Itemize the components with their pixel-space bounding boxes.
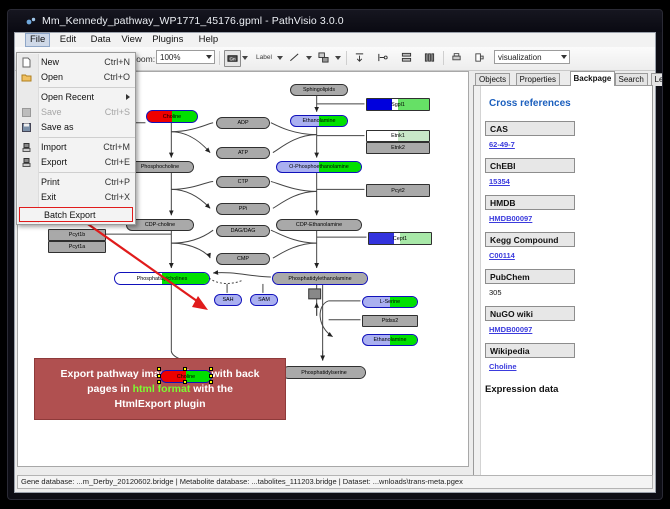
menu-item-help[interactable]: Help (195, 34, 223, 46)
xref-database-nugo-wiki: NuGO wiki (485, 306, 575, 321)
pathway-metabolite-node[interactable]: L-Serine (362, 296, 418, 308)
xref-value-cas[interactable]: 62-49-7 (489, 140, 515, 149)
pathway-gene-node[interactable]: Pcyt1a (48, 241, 106, 253)
menu-item-file[interactable]: File (25, 33, 50, 47)
menu-accelerator: Ctrl+X (105, 190, 130, 205)
datanode-icon[interactable]: Gn (224, 50, 241, 67)
menu-label: Save (41, 107, 62, 117)
menu-item-open[interactable]: OpenCtrl+O (17, 70, 135, 85)
save-icon (21, 107, 32, 118)
backpage-panel: Cross references CAS62-49-7ChEBI15354HMD… (473, 85, 653, 481)
pathway-metabolite-node[interactable]: SAM (250, 294, 278, 306)
xref-value-hmdb[interactable]: HMDB00097 (489, 214, 532, 223)
node-label: PPi (239, 206, 247, 212)
folder-open-icon (21, 72, 32, 83)
menu-label: Open Recent (41, 92, 94, 102)
menu-item-edit[interactable]: Edit (56, 34, 80, 46)
pathway-metabolite-node[interactable]: Ethanolamine (362, 334, 418, 346)
chevron-down-icon (206, 55, 212, 59)
node-label: Choline (163, 114, 181, 120)
xref-database-cas: CAS (485, 121, 575, 136)
pathway-gene-node[interactable]: Ptdss2 (362, 315, 418, 327)
stack-icon[interactable] (399, 50, 414, 65)
pathway-gene-node[interactable]: Etnk1 (366, 130, 430, 142)
menu-accelerator: Ctrl+M (103, 140, 130, 155)
shape-dropdown-icon[interactable] (335, 56, 341, 60)
xref-database-kegg-compound: Kegg Compound (485, 232, 575, 247)
menu-accelerator: Ctrl+O (104, 70, 130, 85)
shape-icon[interactable] (316, 50, 331, 65)
node-label: L-Serine (380, 299, 400, 305)
label-button[interactable]: Label (253, 50, 275, 65)
node-label: DAG/DAG (231, 228, 256, 234)
pathway-gene-node[interactable]: Pcyt1b (48, 229, 106, 241)
node-label: Pcyt1b (69, 232, 85, 238)
xref-value-kegg-compound[interactable]: C00114 (489, 251, 515, 260)
batch-export-label: Batch Export (44, 210, 96, 220)
datanode-dropdown-icon[interactable] (242, 56, 248, 60)
pathway-metabolite-node[interactable]: Sphingolipids (290, 84, 348, 96)
node-label: Phosphatidylserine (301, 370, 347, 376)
menu-item-view[interactable]: View (117, 34, 145, 46)
menu-item-save-as[interactable]: Save as (17, 120, 135, 135)
copy-icon[interactable] (472, 50, 487, 65)
node-label: SAH (222, 297, 233, 303)
node-label: CDP-Ethanolamine (296, 222, 342, 228)
submenu-arrow-icon (126, 94, 130, 100)
pathway-metabolite-node[interactable]: PPi (216, 203, 270, 215)
node-label: ADP (237, 120, 248, 126)
pathway-metabolite-node[interactable]: Choline (146, 110, 198, 123)
xref-database-hmdb: HMDB (485, 195, 575, 210)
pathway-gene-node[interactable]: Pcyt2 (366, 184, 430, 197)
menu-accelerator: Ctrl+P (105, 175, 130, 190)
cross-reference-list: CAS62-49-7ChEBI15354HMDBHMDB00097Kegg Co… (485, 121, 646, 380)
pathway-metabolite-node[interactable]: CDP-choline (126, 219, 194, 231)
pathway-metabolite-node[interactable]: ATP (216, 147, 270, 159)
menu-separator (39, 137, 135, 138)
node-label: Cept1 (393, 236, 407, 242)
menu-item-open-recent[interactable]: Open Recent (17, 90, 135, 105)
menu-item-import[interactable]: ImportCtrl+M (17, 140, 135, 155)
chevron-down-icon (561, 55, 567, 59)
pathway-metabolite-node[interactable]: Phosphatidylserine (282, 366, 366, 379)
export-icon (21, 157, 32, 168)
zoom-value: 100% (160, 53, 180, 62)
node-label: Phosphatidylcholines (137, 276, 188, 282)
visualization-value: visualization (498, 53, 542, 62)
node-label: Choline (177, 374, 195, 380)
menu-separator (39, 87, 135, 88)
callout-line3: HtmlExport plugin (115, 398, 206, 410)
align-left-icon[interactable] (375, 50, 390, 65)
selection-handle[interactable] (183, 380, 187, 384)
node-label: CMP (237, 256, 249, 262)
menu-label: Import (41, 142, 67, 152)
xref-database-chebi: ChEBI (485, 158, 575, 173)
callout-line2-pre: pages in (87, 383, 133, 395)
pathway-metabolite-node[interactable]: SAH (214, 294, 242, 306)
expression-data-heading: Expression data (485, 384, 646, 395)
xref-value-nugo-wiki[interactable]: HMDB00097 (489, 325, 532, 334)
tab-backpage[interactable]: Backpage (570, 71, 616, 86)
selection-handle[interactable] (157, 374, 161, 378)
pathway-metabolite-node[interactable]: Phosphocholine (126, 161, 194, 173)
node-label: Pcyt1a (69, 244, 85, 250)
status-bar: Gene database: ...m_Derby_20120602.bridg… (17, 475, 653, 489)
pathway-metabolite-node[interactable]: CMP (216, 253, 270, 265)
title-bar: Mm_Kennedy_pathway_WP1771_45176.gpml - P… (8, 10, 662, 32)
application-window: Mm_Kennedy_pathway_WP1771_45176.gpml - P… (8, 10, 662, 499)
pathway-metabolite-node[interactable]: ADP (216, 117, 270, 129)
node-label: SAM (258, 297, 270, 303)
xref-value-wikipedia[interactable]: Choline (489, 362, 517, 371)
pathway-metabolite-node[interactable]: CTP (216, 176, 270, 188)
menu-separator (39, 172, 135, 173)
node-label: CDP-choline (145, 222, 175, 228)
gene-expression-left (369, 233, 394, 244)
pathway-gene-node[interactable]: Cept1 (368, 232, 432, 245)
selection-handle[interactable] (157, 367, 161, 371)
node-label: Phosphocholine (141, 164, 179, 170)
cross-references-heading: Cross references (489, 98, 646, 109)
zoom-select[interactable]: 100% (156, 50, 215, 64)
menu-label: Exit (41, 192, 56, 202)
menu-item-new[interactable]: NewCtrl+N (17, 55, 135, 70)
xref-database-wikipedia: Wikipedia (485, 343, 575, 358)
pathway-gene-node[interactable]: Etnk2 (366, 142, 430, 154)
menu-item-print[interactable]: PrintCtrl+P (17, 175, 135, 190)
node-label: CTP (238, 179, 249, 185)
save-as-icon (21, 122, 32, 133)
pathway-gene-node[interactable]: Sgpl1 (366, 98, 430, 111)
import-icon (21, 142, 32, 153)
menu-label: Open (41, 72, 63, 82)
selection-handle[interactable] (183, 367, 187, 371)
align-top-icon[interactable] (352, 50, 367, 65)
file-menu-dropdown[interactable]: NewCtrl+NOpenCtrl+OOpen RecentSaveCtrl+S… (16, 52, 136, 225)
pathway-metabolite-node[interactable]: Phosphatidylcholines (114, 272, 210, 285)
menu-accelerator: Ctrl+N (104, 55, 130, 70)
line-dropdown-icon[interactable] (306, 56, 312, 60)
node-label: O-Phosphoethanolamine (289, 164, 349, 170)
pathway-metabolite-node[interactable]: CDP-Ethanolamine (276, 219, 362, 231)
node-label: Ethanolamine (374, 337, 407, 343)
node-label: Ptdss2 (382, 318, 398, 324)
menu-item-exit[interactable]: ExitCtrl+X (17, 190, 135, 205)
menu-label: Print (41, 177, 60, 187)
menu-label: New (41, 57, 59, 67)
node-label: Phosphatidylethanolamine (288, 276, 351, 282)
callout-line2-highlight: html format (133, 383, 191, 395)
menu-item-batch-export[interactable]: Batch Export (19, 207, 133, 222)
node-label: Sgpl1 (391, 102, 405, 108)
gene-expression-left (367, 99, 392, 110)
menu-accelerator: Ctrl+S (105, 105, 130, 120)
window-title: Mm_Kennedy_pathway_WP1771_45176.gpml - P… (42, 15, 344, 27)
menu-item-data[interactable]: Data (87, 34, 115, 46)
pathway-metabolite-node[interactable]: O-Phosphoethanolamine (276, 161, 362, 173)
menu-accelerator: Ctrl+E (105, 155, 130, 170)
menu-label: Export (41, 157, 67, 167)
menu-item-save: SaveCtrl+S (17, 105, 135, 120)
svg-text:Gn: Gn (229, 56, 236, 61)
backpage-scrollbar[interactable] (474, 86, 481, 480)
menu-item-export[interactable]: ExportCtrl+E (17, 155, 135, 170)
node-label: Pcyt2 (391, 188, 404, 194)
xref-value-pubchem: 305 (489, 288, 502, 297)
distribute-icon[interactable] (422, 50, 437, 65)
pathway-metabolite-node[interactable]: Ethanolamine (290, 115, 348, 127)
node-label: Etnk1 (391, 133, 405, 139)
visualization-select[interactable]: visualization (494, 50, 570, 64)
node-label: ATP (238, 150, 248, 156)
panel-tab-strip: ObjectsPropertiesBackpageSearchLegend (473, 71, 653, 86)
line-icon[interactable] (287, 50, 302, 65)
xref-database-pubchem: PubChem (485, 269, 575, 284)
node-label: Sphingolipids (303, 87, 335, 93)
pathvisio-icon (26, 16, 36, 26)
menu-bar: FileEditDataViewPluginsHelp (15, 33, 655, 48)
side-panel: ObjectsPropertiesBackpageSearchLegend Cr… (473, 71, 653, 496)
node-label: Ethanolamine (303, 118, 336, 124)
new-document-icon (21, 57, 32, 68)
xref-value-chebi[interactable]: 15354 (489, 177, 510, 186)
selection-handle[interactable] (209, 374, 213, 378)
selection-handle[interactable] (209, 380, 213, 384)
node-label: Etnk2 (391, 145, 405, 151)
print-icon[interactable] (449, 50, 464, 65)
pathway-metabolite-node[interactable]: Phosphatidylethanolamine (272, 272, 368, 285)
selection-handle[interactable] (157, 380, 161, 384)
label-dropdown-icon[interactable] (277, 56, 283, 60)
menu-item-plugins[interactable]: Plugins (148, 34, 187, 46)
callout-line2-post: with the (190, 383, 233, 395)
menu-label: Save as (41, 122, 74, 132)
pathway-metabolite-node[interactable]: DAG/DAG (216, 225, 270, 237)
selection-handle[interactable] (209, 367, 213, 371)
